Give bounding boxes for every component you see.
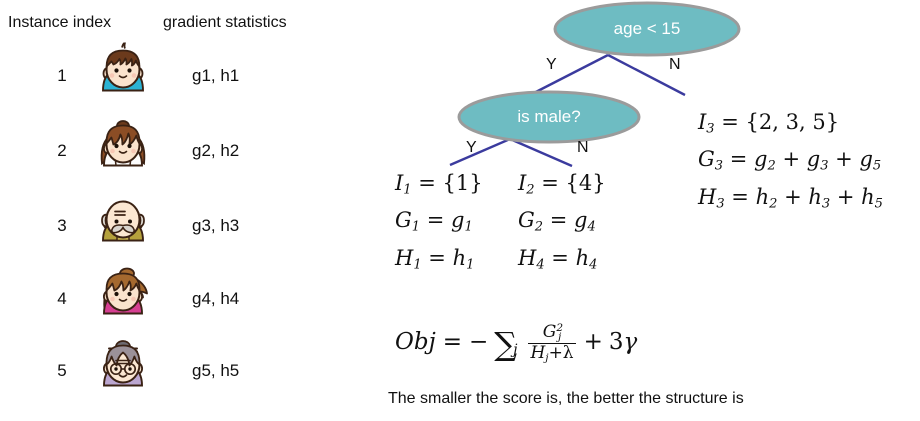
objective-equation: Obj = − ∑ j G2j Hj+λ + 3 γ (395, 322, 637, 363)
decision-tree-diagram: age < 15 is male? Y N Y N I1 = {1} G1 = … (340, 0, 920, 421)
table-row: 3 g3, h3 (0, 192, 340, 260)
table-row: 5 (0, 337, 340, 405)
girl-avatar (93, 118, 153, 185)
boy-avatar (93, 43, 153, 110)
table-row: 4 g4, h4 (0, 265, 340, 333)
row-index-label: 5 (52, 361, 72, 381)
summation-index: j (513, 342, 517, 358)
objective-minus: − (469, 329, 488, 355)
fraction-numerator: G2j (541, 323, 564, 343)
objective-lhs: Obj (395, 329, 436, 355)
leaf-2-statistics: I2 = {4} G2 = g4 H4 = h4 (518, 168, 606, 280)
leaf-1-gradient-sum: G1 = g1 (395, 205, 483, 242)
old-man-avatar (93, 193, 153, 260)
objective-equals: = (443, 329, 462, 355)
row-gradient-stats: g5, h5 (192, 361, 239, 381)
leaf-2-hessian-sum: H4 = h4 (518, 243, 606, 280)
objective-fraction: G2j Hj+λ (528, 323, 575, 364)
gamma-symbol: γ (624, 329, 638, 355)
leaf-1-instance-set: I1 = {1} (395, 168, 483, 205)
edge-root-yes (528, 55, 608, 96)
table-row: 1 g1, h1 (0, 42, 340, 110)
tree-node-root[interactable] (555, 3, 739, 55)
column-header-instance-index: Instance index (8, 14, 111, 32)
row-index-label: 4 (52, 289, 72, 309)
leaf-2-gradient-sum: G2 = g4 (518, 205, 606, 242)
column-header-gradient-statistics: gradient statistics (163, 14, 287, 32)
leaf-1-hessian-sum: H1 = h1 (395, 243, 483, 280)
slide-canvas: Instance index gradient statistics 1 (0, 0, 920, 421)
leaf-2-instance-set: I2 = {4} (518, 168, 606, 205)
branch-label-root-no: N (669, 56, 681, 74)
row-gradient-stats: g1, h1 (192, 66, 239, 86)
leaf-3-hessian-sum: H3 = h2 + h3 + h5 (698, 182, 883, 219)
branch-label-child-yes: Y (466, 139, 477, 157)
woman-avatar (93, 266, 153, 333)
table-row: 2 g2, h2 (0, 117, 340, 185)
branch-label-root-yes: Y (546, 56, 557, 74)
leaf-3-gradient-sum: G3 = g2 + g3 + g5 (698, 144, 883, 181)
objective-plus: + (584, 329, 603, 355)
leaf-3-statistics: I3 = {2, 3, 5} G3 = g2 + g3 + g5 H3 = h2… (698, 107, 883, 219)
instance-table: Instance index gradient statistics 1 (0, 0, 340, 421)
old-woman-avatar (93, 338, 153, 405)
row-gradient-stats: g3, h3 (192, 216, 239, 236)
row-gradient-stats: g4, h4 (192, 289, 239, 309)
leaf-1-statistics: I1 = {1} G1 = g1 H1 = h1 (395, 168, 483, 280)
leaf-3-instance-set: I3 = {2, 3, 5} (698, 107, 883, 144)
fraction-denominator: Hj+λ (528, 343, 575, 364)
branch-label-child-no: N (577, 139, 589, 157)
edge-child-yes (450, 139, 510, 165)
tree-node-is-male[interactable] (459, 92, 639, 142)
row-index-label: 1 (52, 66, 72, 86)
gamma-coefficient: 3 (609, 329, 624, 355)
summary-caption: The smaller the score is, the better the… (388, 390, 744, 408)
row-index-label: 3 (52, 216, 72, 236)
row-gradient-stats: g2, h2 (192, 141, 239, 161)
row-index-label: 2 (52, 141, 72, 161)
